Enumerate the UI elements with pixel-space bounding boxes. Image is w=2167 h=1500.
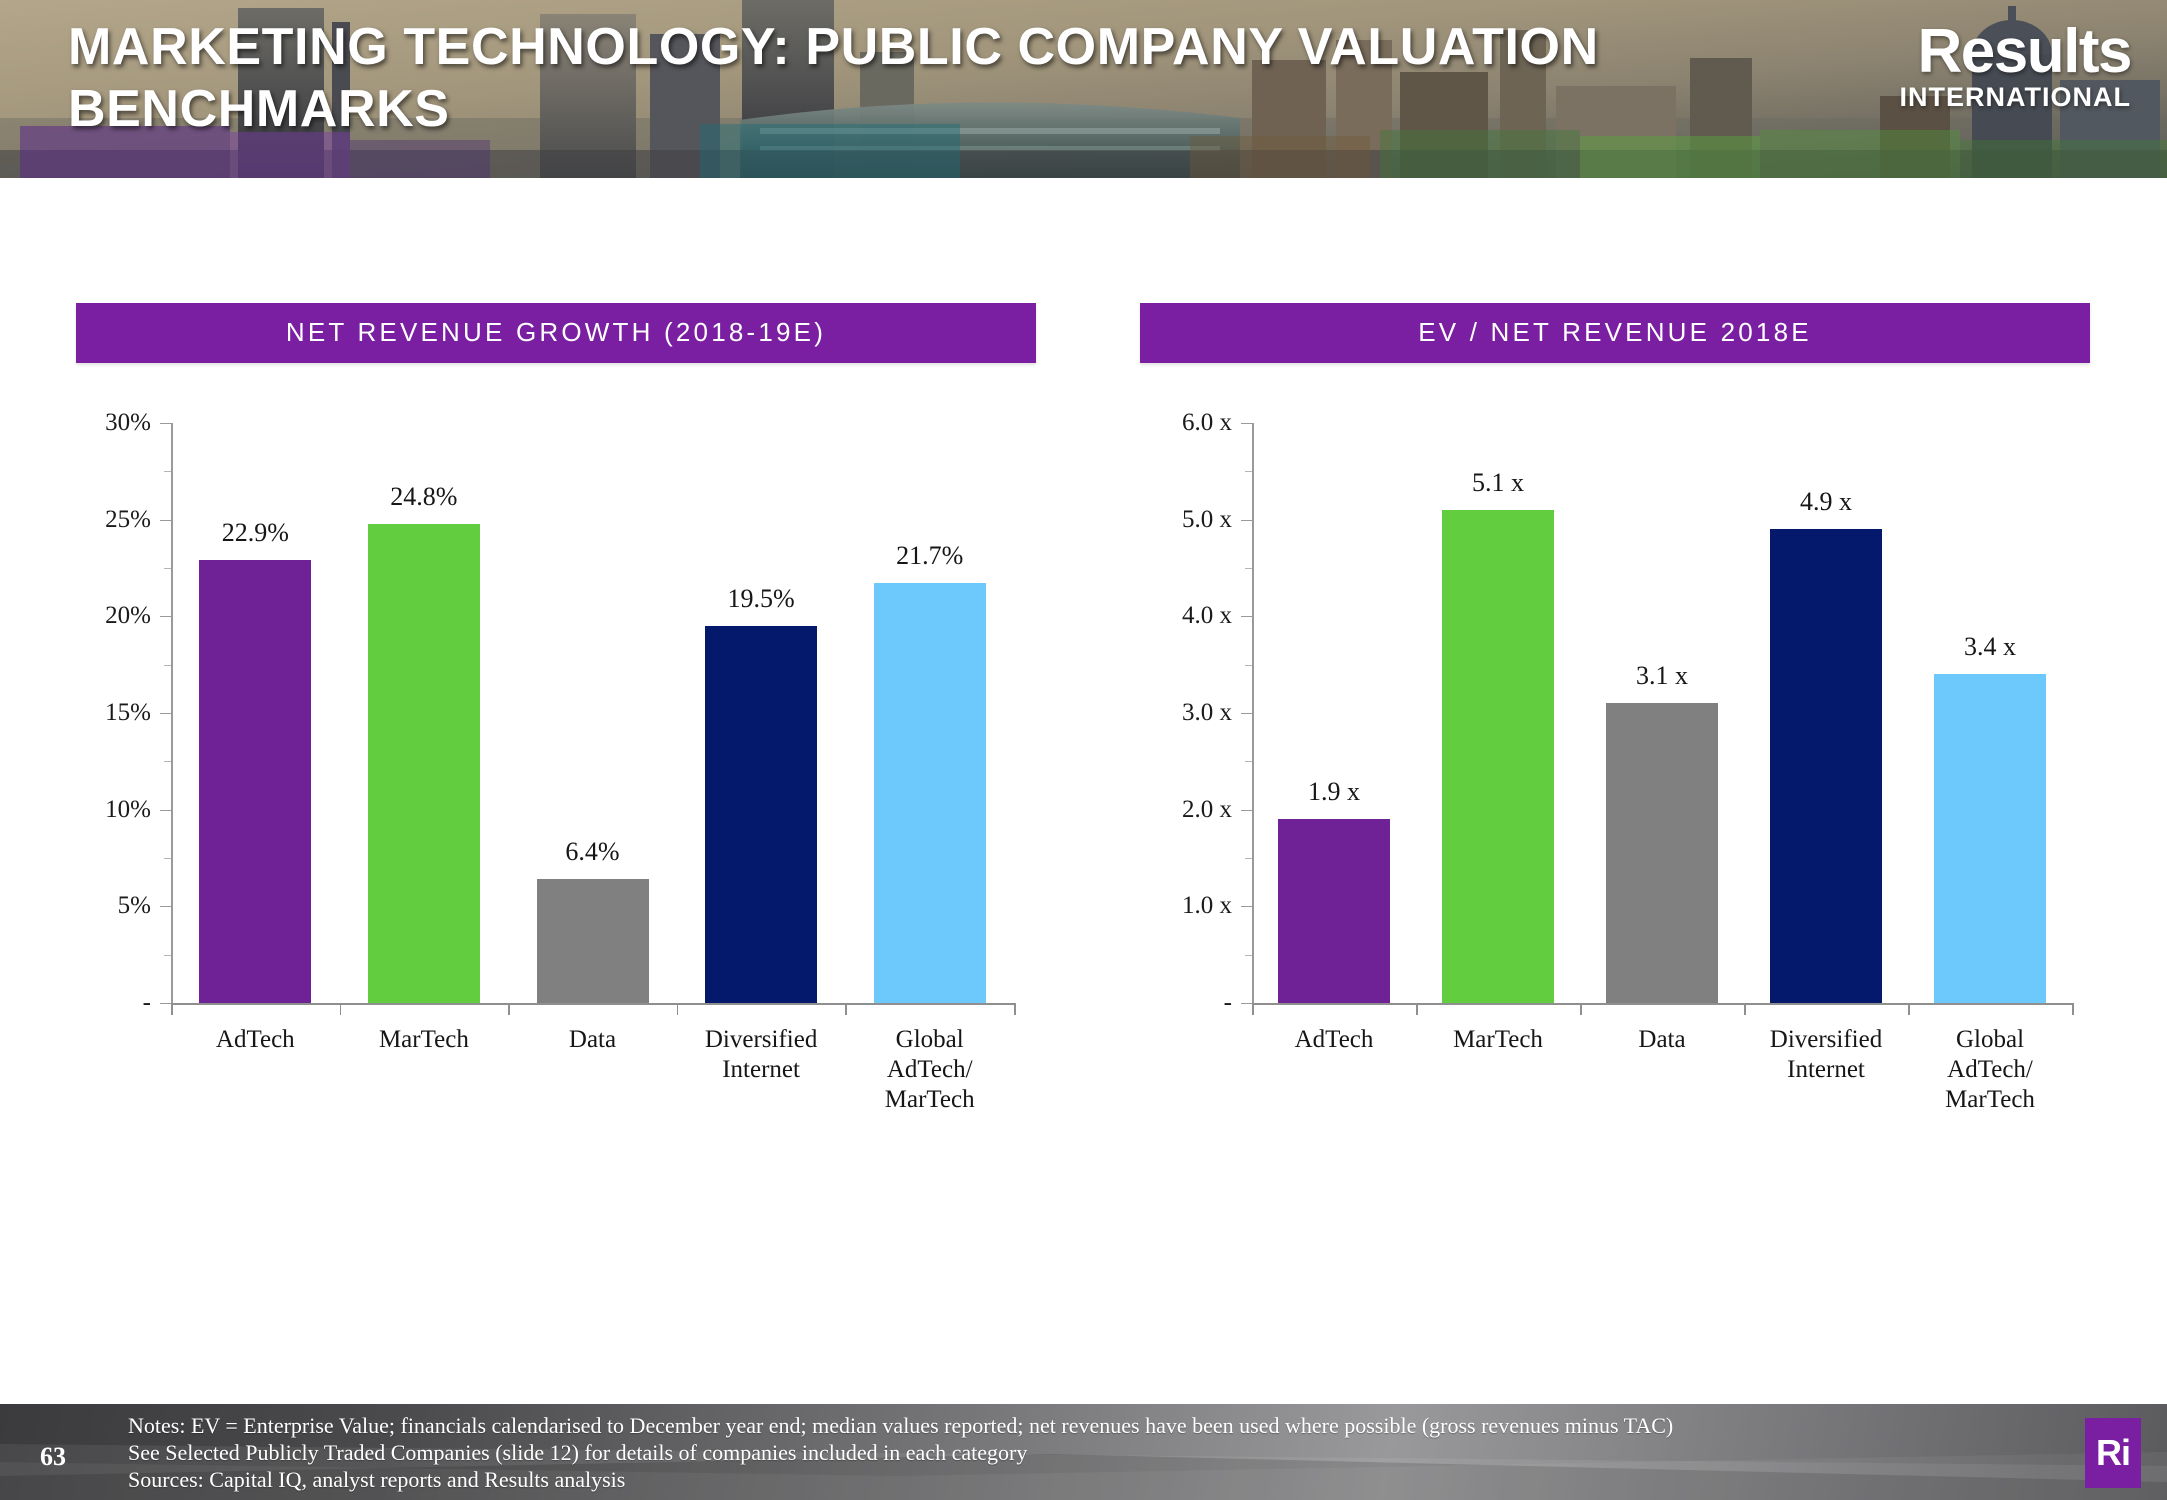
chart-title-ev-net-revenue: EV / NET REVENUE 2018E <box>1140 303 2090 363</box>
logo-subtitle: INTERNATIONAL <box>1900 82 2131 112</box>
y-axis-tick <box>1241 520 1252 521</box>
y-axis-tick <box>160 906 171 907</box>
x-axis-tick <box>340 1003 342 1015</box>
footer-notes: Notes: EV = Enterprise Value; financials… <box>128 1412 1673 1493</box>
page-number: 63 <box>40 1442 66 1472</box>
y-axis-line <box>1252 423 1254 1003</box>
y-axis-tick <box>160 520 171 521</box>
footer-note-line: Notes: EV = Enterprise Value; financials… <box>128 1412 1673 1439</box>
footer-bar: 63 Notes: EV = Enterprise Value; financi… <box>0 1404 2167 1500</box>
logo-wordmark: Results <box>1900 22 2131 82</box>
bar <box>1278 819 1390 1003</box>
bar-value-label: 1.9 x <box>1308 777 1360 807</box>
x-axis-line <box>1252 1003 2072 1005</box>
y-axis-label: 20% <box>105 602 151 630</box>
x-axis-tick <box>845 1003 847 1015</box>
footer-note-line: See Selected Publicly Traded Companies (… <box>128 1439 1673 1466</box>
bar <box>537 879 649 1003</box>
header-banner: MARKETING TECHNOLOGY: PUBLIC COMPANY VAL… <box>0 0 2167 178</box>
bar <box>874 583 986 1003</box>
x-axis-category-label: Diversified Internet <box>1770 1025 1882 1085</box>
x-axis-line <box>171 1003 1014 1005</box>
bar <box>368 524 480 1003</box>
y-axis-tick <box>1241 1003 1252 1004</box>
y-axis-label: 2.0 x <box>1182 796 1232 824</box>
y-axis-minor-tick <box>1245 858 1252 859</box>
y-axis-label: 4.0 x <box>1182 602 1232 630</box>
y-axis-label: 3.0 x <box>1182 699 1232 727</box>
y-axis-line <box>171 423 173 1003</box>
y-axis-label: - <box>143 989 151 1017</box>
y-axis-tick <box>160 423 171 424</box>
x-axis-tick <box>171 1003 173 1015</box>
bar <box>1442 510 1554 1003</box>
x-axis-category-label: Data <box>569 1025 616 1055</box>
y-axis-minor-tick <box>164 858 171 859</box>
x-axis-category-label: Global AdTech/ MarTech <box>877 1025 983 1115</box>
y-axis-minor-tick <box>164 761 171 762</box>
bar <box>705 626 817 1003</box>
x-axis-tick <box>677 1003 679 1015</box>
chart-panel-ev-net-revenue: EV / NET REVENUE 2018E -1.0 x2.0 x3.0 x4… <box>1140 303 2090 1123</box>
y-axis-label: 30% <box>105 409 151 437</box>
x-axis-tick <box>1908 1003 1910 1015</box>
y-axis-tick <box>1241 423 1252 424</box>
x-axis-category-label: Diversified Internet <box>705 1025 817 1085</box>
x-axis-category-label: AdTech <box>216 1025 295 1055</box>
chart-plot-area-right: -1.0 x2.0 x3.0 x4.0 x5.0 x6.0 x1.9 xAdTe… <box>1140 403 2090 1123</box>
y-axis-tick <box>1241 810 1252 811</box>
y-axis-minor-tick <box>1245 471 1252 472</box>
y-axis-minor-tick <box>164 568 171 569</box>
y-axis-tick <box>160 713 171 714</box>
y-axis-minor-tick <box>1245 955 1252 956</box>
y-axis-label: 25% <box>105 506 151 534</box>
bar <box>1606 703 1718 1003</box>
y-axis-tick <box>1241 616 1252 617</box>
bar-value-label: 3.4 x <box>1964 632 2016 662</box>
y-axis-minor-tick <box>164 665 171 666</box>
chart-plot-area-left: -5%10%15%20%25%30%22.9%AdTech24.8%MarTec… <box>76 403 1036 1123</box>
y-axis-label: 5% <box>118 892 151 920</box>
y-axis-minor-tick <box>1245 665 1252 666</box>
y-axis-minor-tick <box>1245 568 1252 569</box>
bar <box>199 560 311 1003</box>
y-axis-tick <box>160 616 171 617</box>
x-axis-category-label: MarTech <box>379 1025 469 1055</box>
y-axis-label: 5.0 x <box>1182 506 1232 534</box>
x-axis-tick <box>1014 1003 1016 1015</box>
x-axis-category-label: MarTech <box>1453 1025 1543 1055</box>
bar-value-label: 3.1 x <box>1636 661 1688 691</box>
x-axis-tick <box>1744 1003 1746 1015</box>
page-title: MARKETING TECHNOLOGY: PUBLIC COMPANY VAL… <box>68 16 1828 140</box>
chart-title-net-revenue-growth: NET REVENUE GROWTH (2018-19E) <box>76 303 1036 363</box>
bar-value-label: 21.7% <box>896 541 963 571</box>
bar-value-label: 5.1 x <box>1472 468 1524 498</box>
bar-value-label: 24.8% <box>390 482 457 512</box>
y-axis-tick <box>160 810 171 811</box>
footer-note-line: Sources: Capital IQ, analyst reports and… <box>128 1466 1673 1493</box>
y-axis-minor-tick <box>164 471 171 472</box>
y-axis-tick <box>1241 713 1252 714</box>
x-axis-tick <box>1580 1003 1582 1015</box>
y-axis-label: - <box>1224 989 1232 1017</box>
x-axis-category-label: AdTech <box>1295 1025 1374 1055</box>
bar-value-label: 22.9% <box>222 518 289 548</box>
bar <box>1934 674 2046 1003</box>
y-axis-minor-tick <box>1245 761 1252 762</box>
x-axis-tick <box>2072 1003 2074 1015</box>
results-international-logo: Results INTERNATIONAL <box>1900 22 2131 112</box>
bar <box>1770 529 1882 1003</box>
y-axis-label: 15% <box>105 699 151 727</box>
chart-panel-net-revenue-growth: NET REVENUE GROWTH (2018-19E) -5%10%15%2… <box>76 303 1036 1123</box>
bar-value-label: 6.4% <box>565 837 619 867</box>
ri-logo-mark: Ri <box>2085 1418 2141 1488</box>
bar-value-label: 19.5% <box>728 584 795 614</box>
x-axis-tick <box>1252 1003 1254 1015</box>
y-axis-label: 1.0 x <box>1182 892 1232 920</box>
x-axis-tick <box>1416 1003 1418 1015</box>
y-axis-label: 10% <box>105 796 151 824</box>
bar-value-label: 4.9 x <box>1800 487 1852 517</box>
x-axis-tick <box>508 1003 510 1015</box>
y-axis-label: 6.0 x <box>1182 409 1232 437</box>
y-axis-minor-tick <box>164 955 171 956</box>
y-axis-tick <box>160 1003 171 1004</box>
x-axis-category-label: Global AdTech/ MarTech <box>1940 1025 2040 1115</box>
x-axis-category-label: Data <box>1638 1025 1685 1055</box>
y-axis-tick <box>1241 906 1252 907</box>
